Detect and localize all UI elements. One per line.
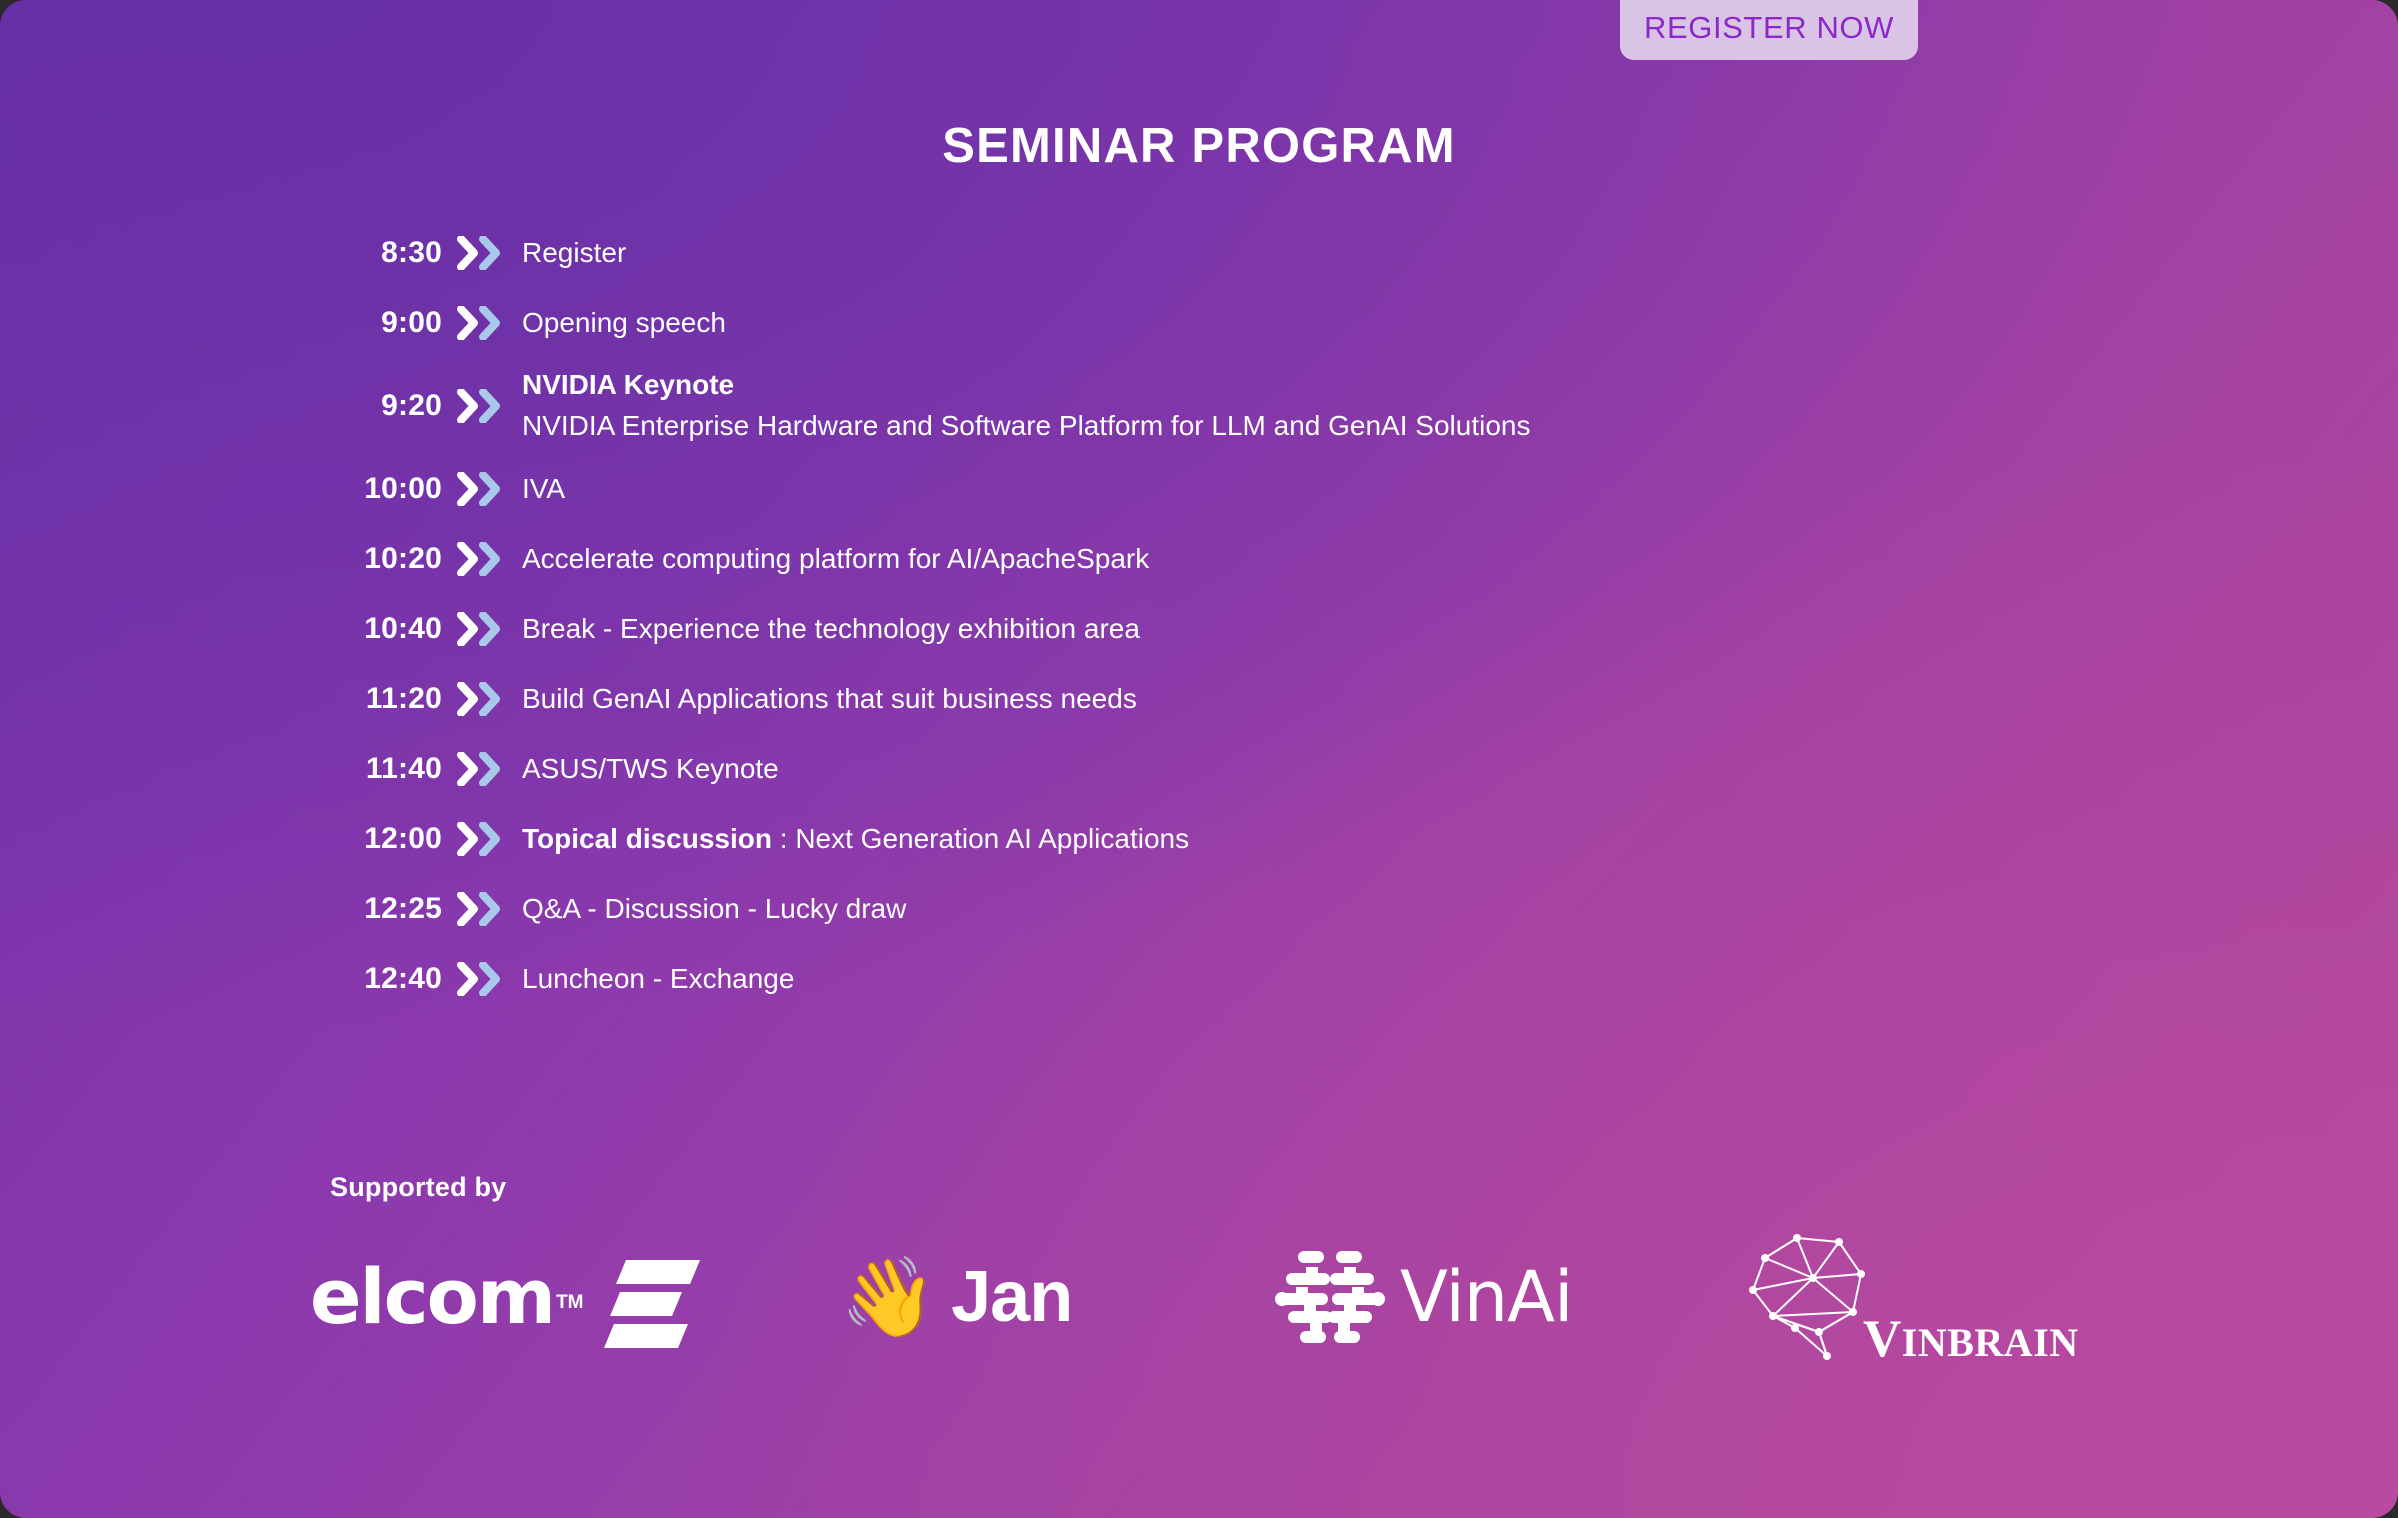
register-now-button[interactable]: REGISTER NOW — [1620, 0, 1918, 60]
vinbrain-word-initial: V — [1863, 1310, 1902, 1368]
agenda-row: 10:20 Accelerate computing platform for … — [330, 524, 2230, 594]
elcom-logo: elcomTM — [310, 1222, 704, 1372]
double-chevron-icon — [442, 962, 520, 996]
supported-by-label: Supported by — [330, 1172, 506, 1203]
agenda-text: IVA — [520, 471, 565, 508]
agenda-session-title: NVIDIA Keynote — [522, 367, 1530, 404]
agenda-text: Accelerate computing platform for AI/Apa… — [520, 541, 1149, 578]
double-chevron-icon — [442, 822, 520, 856]
supporter-logos: elcomTM 👋 Jan — [310, 1222, 2290, 1372]
agenda-time: 11:40 — [330, 752, 442, 786]
vinbrain-word-rest: INBRAIN — [1902, 1320, 2079, 1365]
agenda-row: 9:00 Opening speech — [330, 288, 2230, 358]
agenda-row: 12:25 Q&A - Discussion - Lucky draw — [330, 874, 2230, 944]
agenda-time: 11:20 — [330, 682, 442, 716]
agenda-time: 10:20 — [330, 542, 442, 576]
agenda-time: 9:00 — [330, 306, 442, 340]
double-chevron-icon — [442, 389, 520, 423]
vinai-circuit-mark-icon — [1270, 1237, 1390, 1357]
agenda-row: 11:20 Build GenAI Applications that suit… — [330, 664, 2230, 734]
agenda-time: 12:40 — [330, 962, 442, 996]
agenda-text-bold-prefix: Topical discussion — [522, 823, 772, 854]
double-chevron-icon — [442, 542, 520, 576]
double-chevron-icon — [442, 306, 520, 340]
agenda-list: 8:30 Register 9:00 Opening speech 9: — [330, 218, 2230, 1014]
vinai-logo: VinAi — [1270, 1222, 1573, 1372]
elcom-wordmark: elcom — [310, 1259, 554, 1335]
agenda-row: 10:40 Break - Experience the technology … — [330, 594, 2230, 664]
agenda-row: 9:20 NVIDIA Keynote NVIDIA Enterprise Ha… — [330, 358, 2230, 454]
agenda-row: 8:30 Register — [330, 218, 2230, 288]
agenda-time: 12:25 — [330, 892, 442, 926]
elcom-e-mark-icon — [594, 1242, 704, 1352]
agenda-time: 12:00 — [330, 822, 442, 856]
agenda-time: 8:30 — [330, 236, 442, 270]
elcom-trademark-symbol: TM — [556, 1292, 583, 1314]
double-chevron-icon — [442, 236, 520, 270]
double-chevron-icon — [442, 752, 520, 786]
agenda-text: : Next Generation AI Applications — [772, 823, 1189, 854]
double-chevron-icon — [442, 682, 520, 716]
agenda-text: Break - Experience the technology exhibi… — [520, 611, 1140, 648]
agenda-text: Q&A - Discussion - Lucky draw — [520, 891, 906, 928]
agenda-text: Opening speech — [520, 305, 726, 342]
agenda-session-subtitle: NVIDIA Enterprise Hardware and Software … — [522, 408, 1530, 445]
agenda-text-block: Topical discussion : Next Generation AI … — [520, 821, 1189, 858]
agenda-time: 10:00 — [330, 472, 442, 506]
agenda-row: 10:00 IVA — [330, 454, 2230, 524]
agenda-text-block: NVIDIA Keynote NVIDIA Enterprise Hardwar… — [520, 367, 1530, 445]
agenda-text: Build GenAI Applications that suit busin… — [520, 681, 1137, 718]
vinbrain-logo: VINBRAIN — [1735, 1222, 2075, 1372]
page-title: SEMINAR PROGRAM — [0, 118, 2398, 174]
vinai-wordmark: VinAi — [1400, 1262, 1573, 1332]
agenda-text: ASUS/TWS Keynote — [520, 751, 779, 788]
agenda-row: 12:00 Topical discussion : Next Generati… — [330, 804, 2230, 874]
vinbrain-wordmark: VINBRAIN — [1863, 1313, 2079, 1366]
double-chevron-icon — [442, 612, 520, 646]
agenda-row: 11:40 ASUS/TWS Keynote — [330, 734, 2230, 804]
jan-wordmark: Jan — [951, 1261, 1072, 1333]
seminar-program-page: REGISTER NOW SEMINAR PROGRAM 8:30 Regist… — [0, 0, 2398, 1518]
double-chevron-icon — [442, 892, 520, 926]
double-chevron-icon — [442, 472, 520, 506]
agenda-text: Register — [520, 235, 626, 272]
agenda-time: 10:40 — [330, 612, 442, 646]
jan-logo: 👋 Jan — [840, 1222, 1072, 1372]
agenda-row: 12:40 Luncheon - Exchange — [330, 944, 2230, 1014]
waving-hand-icon: 👋 — [840, 1258, 937, 1336]
agenda-text: Luncheon - Exchange — [520, 961, 794, 998]
agenda-time: 9:20 — [330, 389, 442, 423]
